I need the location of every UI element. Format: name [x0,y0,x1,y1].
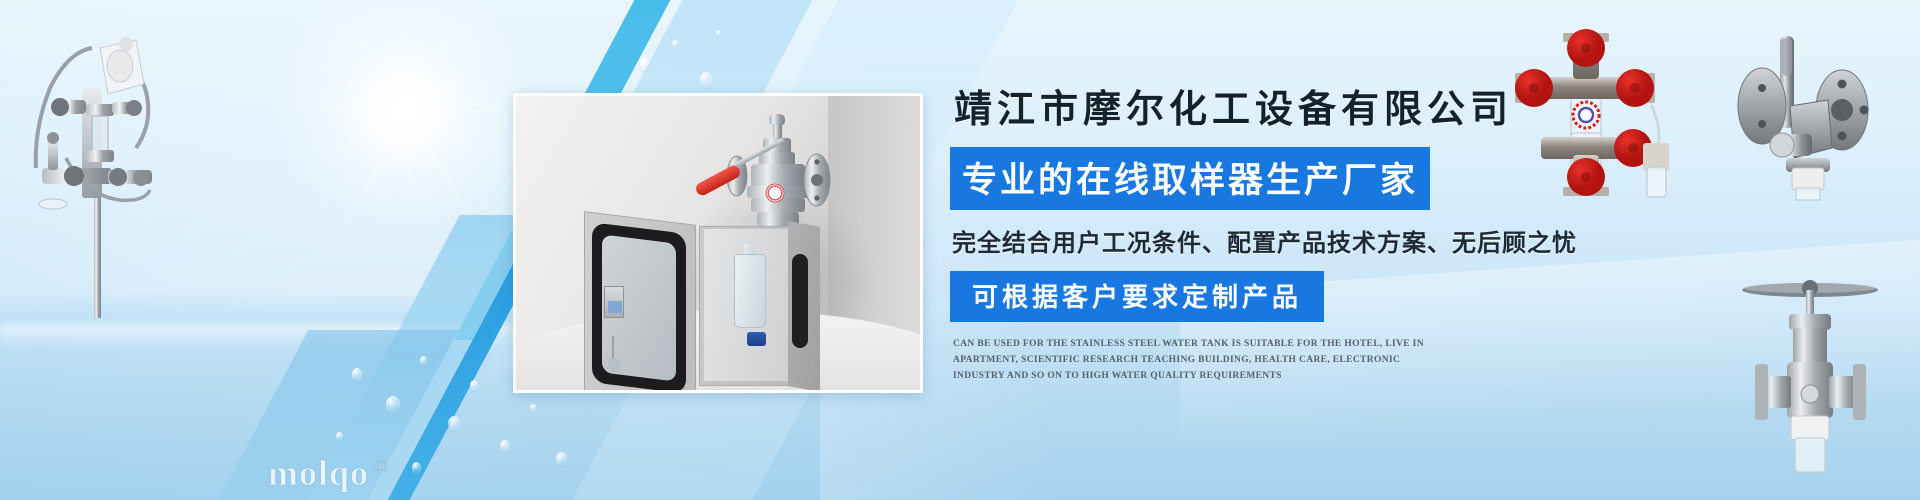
center-product-photo [513,93,923,393]
cabinet-side-gasket [792,254,808,348]
promo-banner: 靖江市摩尔化工设备有限公司 专业的在线取样器生产厂家 完全结合用户工况条件、配置… [0,0,1920,500]
water-droplet-icon [420,356,427,366]
watermark-logo: molqo® [268,452,389,494]
water-droplet-icon [352,368,362,382]
water-droplet-icon [716,30,721,37]
left-product-image [8,18,188,318]
handwheel-gate-valve-icon [1715,272,1905,497]
water-droplet-icon [412,462,421,474]
tagline-highlight: 专业的在线取样器生产厂家 [950,147,1430,210]
water-droplet-icon [556,452,567,466]
description-text: 完全结合用户工况条件、配置产品技术方案、无后顾之忧 [952,223,1577,258]
water-droplet-icon [672,40,678,48]
water-droplet-icon [470,380,478,391]
water-droplet-icon [640,58,649,71]
water-droplet-icon [386,396,400,414]
watermark-text: molqo [268,453,369,493]
water-droplet-icon [336,432,343,441]
water-droplet-icon [500,440,510,453]
water-droplet-icon [700,72,712,88]
custom-note-highlight: 可根据客户要求定制产品 [950,271,1324,322]
sample-bottle [734,254,766,328]
registered-mark-icon: ® [375,457,389,476]
company-name: 靖江市摩尔化工设备有限公司 [954,78,1740,133]
door-key-head-icon [608,358,620,372]
water-droplet-icon [530,404,536,412]
blue-cap [747,332,766,346]
water-droplet-icon [448,416,460,431]
right-bottom-valve-image [1715,272,1905,497]
english-paragraph: CAN BE USED FOR THE STAINLESS STEEL WATE… [953,336,1453,384]
brand-seal-icon [764,182,786,204]
door-latch-tag [608,301,622,313]
pole-mounted-sampler-icon [8,18,188,318]
banner-copy: 靖江市摩尔化工设备有限公司 专业的在线取样器生产厂家 完全结合用户工况条件、配置… [950,78,1740,384]
